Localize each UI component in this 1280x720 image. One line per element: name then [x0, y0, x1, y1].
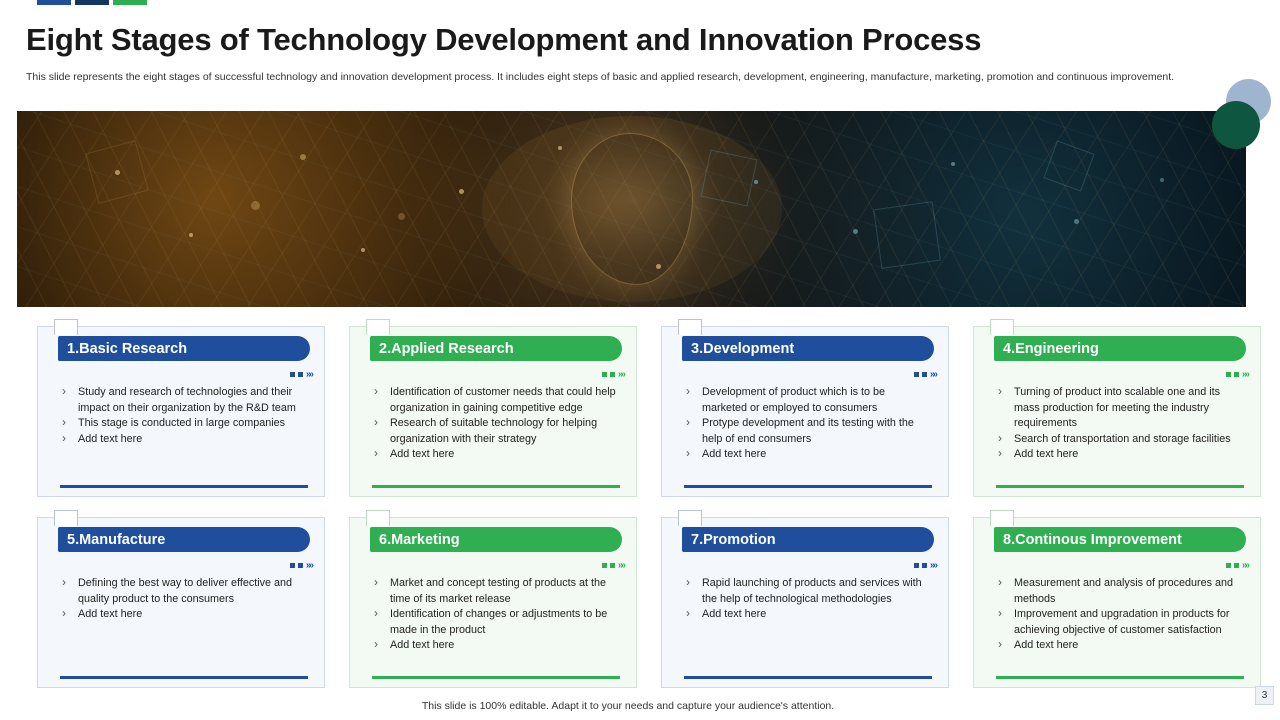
stage-card-1[interactable]: 1.Basic Research »» Study and research o… [37, 326, 325, 497]
list-item: Protype development and its testing with… [680, 416, 932, 447]
stage-bullets-8: Measurement and analysis of procedures a… [992, 576, 1244, 654]
card-underline [684, 676, 932, 679]
hero-decor-square [873, 201, 941, 269]
top-accent-bars [37, 0, 147, 5]
stage-bullets-5: Defining the best way to deliver effecti… [56, 576, 308, 623]
stage-title-1: 1.Basic Research [58, 336, 310, 361]
chevron-marker-icon: »» [1226, 560, 1247, 571]
stage-bullets-6: Market and concept testing of products a… [368, 576, 620, 654]
stage-bullets-1: Study and research of technologies and t… [56, 385, 308, 447]
list-item: Search of transportation and storage fac… [992, 432, 1244, 448]
page-title: Eight Stages of Technology Development a… [26, 22, 981, 58]
stage-card-4[interactable]: 4.Engineering »» Turning of product into… [973, 326, 1261, 497]
stage-title-7: 7.Promotion [682, 527, 934, 552]
card-underline [996, 485, 1244, 488]
stage-card-2[interactable]: 2.Applied Research »» Identification of … [349, 326, 637, 497]
card-notch [54, 510, 78, 526]
accent-bar-blue [37, 0, 71, 5]
card-underline [60, 485, 308, 488]
chevron-marker-icon: »» [290, 369, 311, 380]
list-item: Research of suitable technology for help… [368, 416, 620, 447]
card-notch [54, 319, 78, 335]
page-number: 3 [1255, 686, 1274, 705]
list-item: Turning of product into scalable one and… [992, 385, 1244, 432]
chevron-marker-icon: »» [290, 560, 311, 571]
list-item: Improvement and upgradation in products … [992, 607, 1244, 638]
hero-image [17, 111, 1246, 307]
list-item: Add text here [680, 447, 932, 463]
stage-bullets-7: Rapid launching of products and services… [680, 576, 932, 623]
stage-title-8: 8.Continous Improvement [994, 527, 1246, 552]
stage-bullets-4: Turning of product into scalable one and… [992, 385, 1244, 463]
accent-bar-dark [75, 0, 109, 5]
stage-card-6[interactable]: 6.Marketing »» Market and concept testin… [349, 517, 637, 688]
page-subtitle: This slide represents the eight stages o… [26, 71, 1206, 84]
card-underline [372, 485, 620, 488]
list-item: Add text here [368, 638, 620, 654]
card-underline [60, 676, 308, 679]
card-notch [990, 319, 1014, 335]
list-item: Add text here [56, 432, 308, 448]
card-notch [366, 510, 390, 526]
card-notch [990, 510, 1014, 526]
stage-card-5[interactable]: 5.Manufacture »» Defining the best way t… [37, 517, 325, 688]
chevron-marker-icon: »» [914, 560, 935, 571]
stage-title-3: 3.Development [682, 336, 934, 361]
list-item: Measurement and analysis of procedures a… [992, 576, 1244, 607]
list-item: Identification of customer needs that co… [368, 385, 620, 416]
list-item: Add text here [992, 638, 1244, 654]
list-item: Market and concept testing of products a… [368, 576, 620, 607]
list-item: Rapid launching of products and services… [680, 576, 932, 607]
card-notch [678, 319, 702, 335]
card-notch [678, 510, 702, 526]
footer-note: This slide is 100% editable. Adapt it to… [0, 700, 1280, 712]
chevron-marker-icon: »» [1226, 369, 1247, 380]
stage-bullets-3: Development of product which is to be ma… [680, 385, 932, 463]
chevron-marker-icon: »» [602, 369, 623, 380]
decorative-circle-green [1212, 101, 1260, 149]
list-item: Add text here [680, 607, 932, 623]
list-item: Add text here [56, 607, 308, 623]
stage-card-7[interactable]: 7.Promotion »» Rapid launching of produc… [661, 517, 949, 688]
stage-bullets-2: Identification of customer needs that co… [368, 385, 620, 463]
list-item: This stage is conducted in large compani… [56, 416, 308, 432]
chevron-marker-icon: »» [602, 560, 623, 571]
list-item: Add text here [992, 447, 1244, 463]
chevron-marker-icon: »» [914, 369, 935, 380]
stage-title-6: 6.Marketing [370, 527, 622, 552]
card-underline [996, 676, 1244, 679]
list-item: Defining the best way to deliver effecti… [56, 576, 308, 607]
stage-card-3[interactable]: 3.Development »» Development of product … [661, 326, 949, 497]
list-item: Add text here [368, 447, 620, 463]
list-item: Identification of changes or adjustments… [368, 607, 620, 638]
hero-node-dots [17, 111, 1246, 307]
stage-card-8[interactable]: 8.Continous Improvement »» Measurement a… [973, 517, 1261, 688]
list-item: Study and research of technologies and t… [56, 385, 308, 416]
stage-title-5: 5.Manufacture [58, 527, 310, 552]
stage-title-2: 2.Applied Research [370, 336, 622, 361]
stage-title-4: 4.Engineering [994, 336, 1246, 361]
list-item: Development of product which is to be ma… [680, 385, 932, 416]
card-notch [366, 319, 390, 335]
accent-bar-green [113, 0, 147, 5]
card-underline [684, 485, 932, 488]
card-underline [372, 676, 620, 679]
hero-decor-square [701, 150, 758, 207]
